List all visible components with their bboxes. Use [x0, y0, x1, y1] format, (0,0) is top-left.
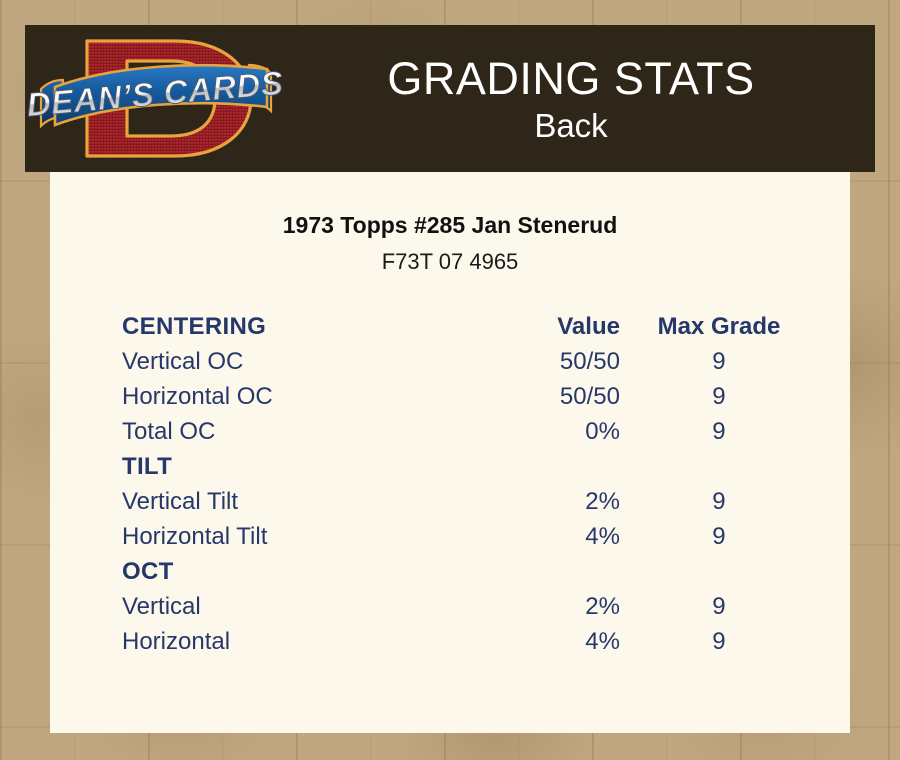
section-header-row: TILT: [110, 449, 790, 484]
stat-label: Horizontal: [110, 624, 443, 659]
content-panel: 1973 Topps #285 Jan Stenerud F73T 07 496…: [50, 172, 850, 733]
stat-label: Vertical OC: [110, 344, 443, 379]
deans-cards-logo[interactable]: DEAN’S CARDS: [25, 25, 287, 172]
section-spacer-grade: [648, 449, 790, 484]
stat-value: 0%: [443, 414, 648, 449]
section-title: TILT: [110, 449, 443, 484]
table-row: Horizontal4%9: [110, 624, 790, 659]
stat-value: 2%: [443, 589, 648, 624]
table-row: Horizontal OC50/509: [110, 379, 790, 414]
stat-max-grade: 9: [648, 589, 790, 624]
section-header-row: OCT: [110, 554, 790, 589]
table-row: Horizontal Tilt4%9: [110, 519, 790, 554]
stat-max-grade: 9: [648, 379, 790, 414]
section-title: OCT: [110, 554, 443, 589]
column-header-section: CENTERING: [110, 309, 443, 344]
stat-value: 2%: [443, 484, 648, 519]
stat-label: Horizontal Tilt: [110, 519, 443, 554]
stat-value: 4%: [443, 519, 648, 554]
logo-artwork: DEAN’S CARDS: [25, 25, 287, 172]
header-titles: GRADING STATS Back: [287, 56, 875, 142]
stat-label: Vertical: [110, 589, 443, 624]
column-header-value: Value: [443, 309, 648, 344]
section-spacer-grade: [648, 554, 790, 589]
column-header-max-grade: Max Grade: [648, 309, 790, 344]
stat-max-grade: 9: [648, 519, 790, 554]
table-header-row: CENTERINGValueMax Grade: [110, 309, 790, 344]
stat-value: 50/50: [443, 344, 648, 379]
card-title: 1973 Topps #285 Jan Stenerud: [50, 212, 850, 239]
header-bar: DEAN’S CARDS GRADING STATS Back: [25, 25, 875, 172]
section-spacer-value: [443, 449, 648, 484]
page-title: GRADING STATS: [287, 56, 855, 101]
stat-value: 50/50: [443, 379, 648, 414]
table-row: Vertical Tilt2%9: [110, 484, 790, 519]
section-spacer-value: [443, 554, 648, 589]
page-subtitle: Back: [287, 109, 855, 142]
stat-label: Horizontal OC: [110, 379, 443, 414]
table-row: Vertical2%9: [110, 589, 790, 624]
stat-max-grade: 9: [648, 414, 790, 449]
grading-stats-body: CENTERINGValueMax GradeVertical OC50/509…: [110, 309, 790, 659]
stat-max-grade: 9: [648, 344, 790, 379]
grading-stats-table: CENTERINGValueMax GradeVertical OC50/509…: [110, 309, 790, 659]
stat-label: Total OC: [110, 414, 443, 449]
stat-value: 4%: [443, 624, 648, 659]
stat-max-grade: 9: [648, 484, 790, 519]
table-row: Total OC0%9: [110, 414, 790, 449]
card-serial-number: F73T 07 4965: [50, 249, 850, 275]
stat-label: Vertical Tilt: [110, 484, 443, 519]
stat-max-grade: 9: [648, 624, 790, 659]
table-row: Vertical OC50/509: [110, 344, 790, 379]
